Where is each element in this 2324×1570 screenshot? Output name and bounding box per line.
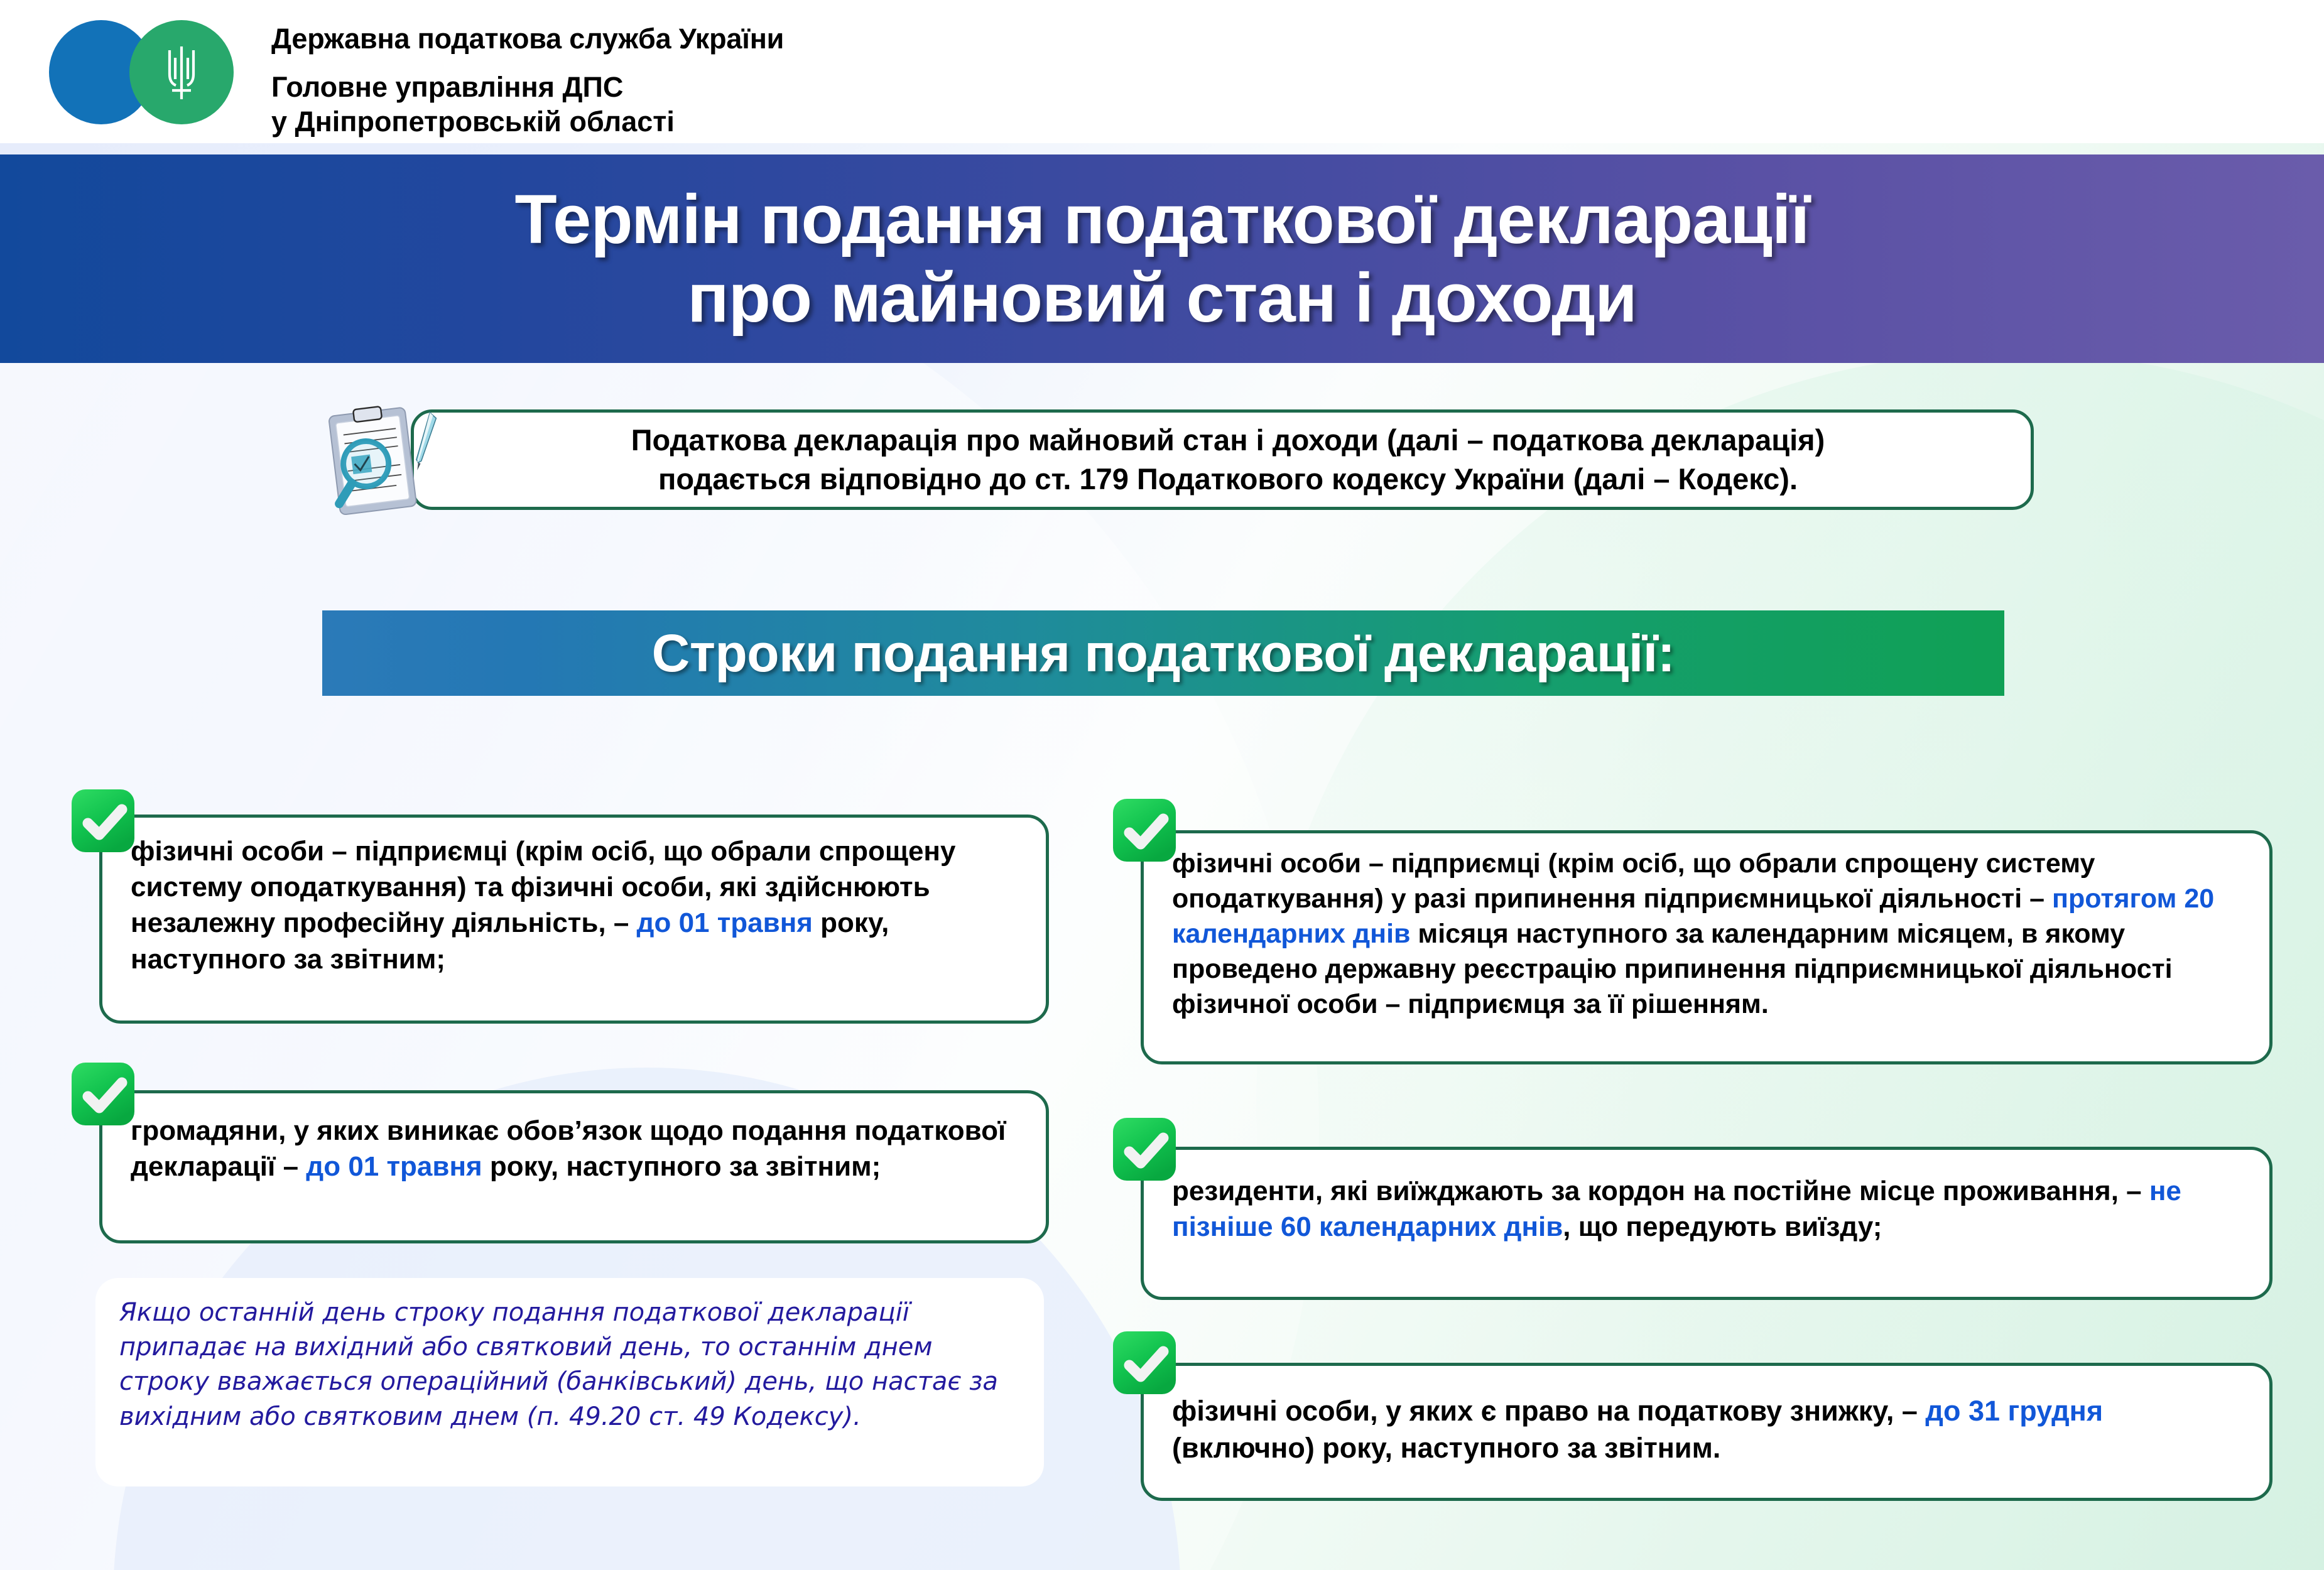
deadline-card-text: фізичні особи, у яких є право на податко… [1172,1393,2252,1466]
green-check-icon [1110,798,1181,868]
section-header-banner: Строки подання податкової декларації: [322,610,2004,696]
intro-text: Податкова декларація про майновий стан і… [604,421,1842,499]
agency-logo [49,20,256,124]
deadline-card: фізичні особи, у яких є право на податко… [1110,1325,2272,1501]
deadline-card: резиденти, які виїжджають за кордон на п… [1110,1112,2272,1300]
page-title-line1: Термін подання податкової декларації [514,180,1809,259]
deadline-card-text: громадяни, у яких виникає обов’язок щодо… [131,1113,1023,1184]
intro-box: Податкова декларація про майновий стан і… [411,409,2034,510]
clipboard-magnifier-icon [313,401,445,519]
deadline-card-text: фізичні особи – підприємці (крім осіб, щ… [131,833,1023,977]
trident-emblem-icon [163,41,200,104]
deadline-card: фізичні особи – підприємці (крім осіб, щ… [69,788,1049,1024]
title-banner: Термін подання податкової декларації про… [0,154,2324,363]
intro-line1: Податкова декларація про майновий стан і… [631,421,1825,460]
note-box: Якщо останній день строку подання податк… [95,1278,1044,1486]
agency-name-block: Державна податкова служба України Головн… [271,24,784,139]
agency-name-line1: Державна податкова служба України [271,24,784,54]
page-title-line2: про майновий стан і доходи [514,259,1809,337]
deadline-card-text: резиденти, які виїжджають за кордон на п… [1172,1173,2252,1245]
green-check-icon [69,1061,139,1132]
intro-section: Податкова декларація про майновий стан і… [313,401,2034,519]
note-text: Якщо останній день строку подання податк… [119,1296,1024,1434]
green-check-icon [69,788,139,858]
agency-name-line2a: Головне управління ДПС [271,70,784,105]
deadline-card-text: фізичні особи – підприємці (крім осіб, щ… [1172,847,2252,1022]
intro-line2: подається відповідно до ст. 179 Податков… [631,460,1825,499]
agency-name-line2b: у Дніпропетровській області [271,105,784,139]
deadline-card: громадяни, у яких виникає обов’язок щодо… [69,1061,1049,1243]
deadline-card: фізичні особи – підприємці (крім осіб, щ… [1110,798,2272,1064]
page-title: Термін подання податкової декларації про… [439,180,1884,338]
green-check-icon [1110,1117,1181,1187]
section-header-text: Строки подання податкової декларації: [652,623,1675,684]
green-check-icon [1110,1330,1181,1400]
logo-bar: Державна податкова служба України Головн… [0,0,2324,143]
infographic-poster: Державна податкова служба України Головн… [0,0,2324,1570]
